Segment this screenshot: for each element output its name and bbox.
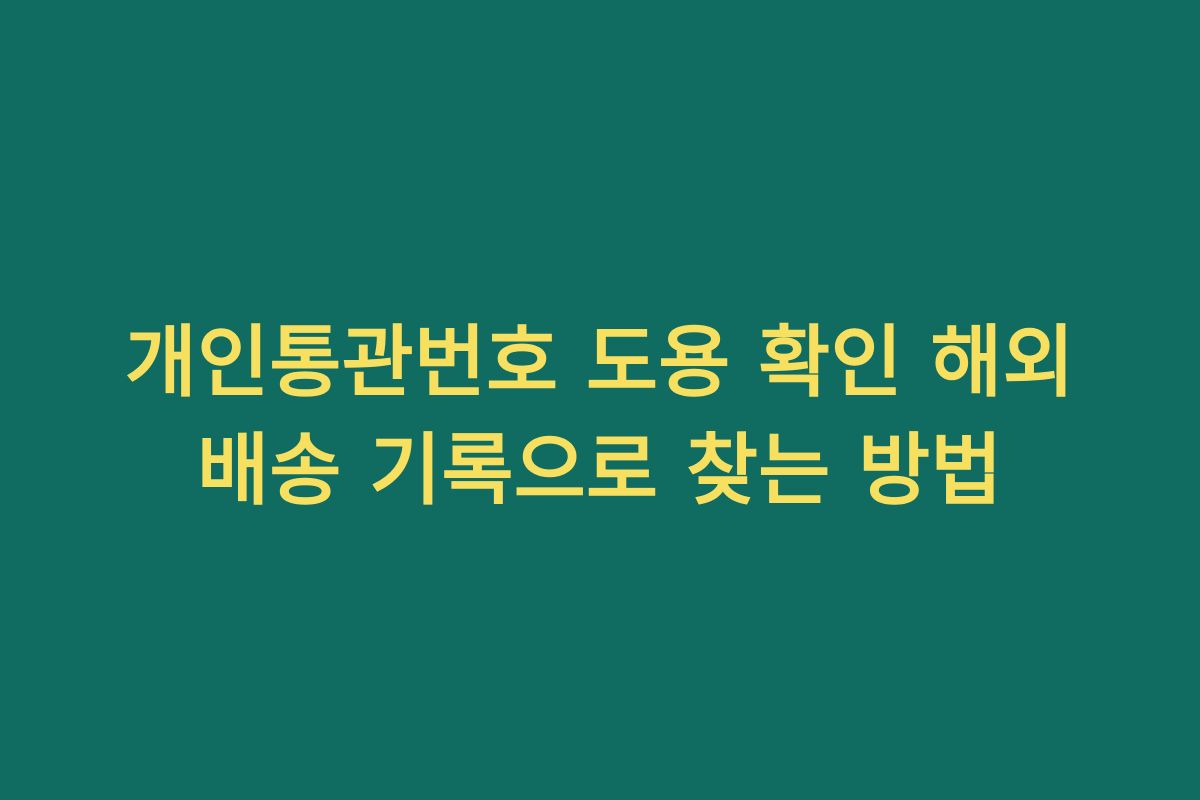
page-title: 개인통관번호 도용 확인 해외 배송 기록으로 찾는 방법 — [95, 310, 1105, 525]
title-block: 개인통관번호 도용 확인 해외 배송 기록으로 찾는 방법 — [85, 310, 1115, 525]
thumbnail-card: 개인통관번호 도용 확인 해외 배송 기록으로 찾는 방법 — [0, 0, 1200, 800]
